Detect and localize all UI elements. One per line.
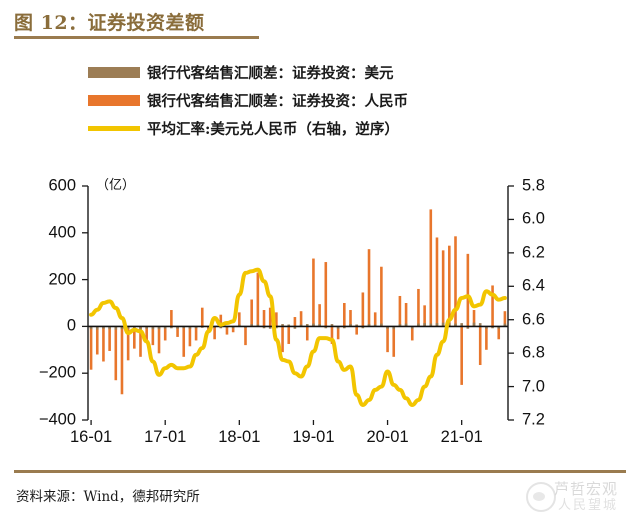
bar-cny (201, 308, 204, 327)
bar-cny (306, 326, 309, 340)
y-axis-left-label: 200 (14, 270, 76, 289)
y-axis-right-label: 6.8 (522, 344, 545, 363)
x-axis-label: 20-01 (366, 428, 408, 447)
y-axis-right-label: 6.6 (522, 310, 545, 329)
bar-cny (263, 310, 266, 326)
bar-cny (213, 326, 216, 339)
y-axis-left-label: 600 (14, 177, 76, 196)
bar-cny (189, 326, 192, 346)
watermark-logo-icon (526, 482, 556, 512)
source-note: 资料来源：Wind，德邦研究所 (16, 485, 200, 505)
bar-cny (281, 326, 284, 352)
bar-cny (386, 326, 389, 352)
chart-page: 图 12：证券投资差额 银行代客结售汇顺差：证券投资：美元银行代客结售汇顺差：证… (0, 0, 640, 523)
bar-cny (300, 311, 303, 326)
y-axis-unit: （亿） (96, 174, 135, 193)
bar-cny (436, 237, 439, 326)
plot-svg (88, 186, 508, 420)
bar-cny (114, 326, 117, 380)
bar-cny (96, 326, 99, 354)
bar-cny (417, 289, 420, 326)
watermark-subtitle: 人民望城 (558, 494, 618, 513)
x-axis-label: 16-01 (70, 428, 112, 447)
bar-cny (152, 326, 155, 345)
bar-cny (405, 303, 408, 326)
bar-cny (479, 326, 482, 365)
bar-cny (392, 326, 395, 356)
legend-item-1[interactable]: 银行代客结售汇顺差：证券投资：人民币 (88, 86, 408, 114)
chart-title: 图 12：证券投资差额 (14, 8, 205, 35)
bar-cny (121, 326, 124, 394)
bar-cny (158, 326, 161, 353)
bar-cny (399, 296, 402, 326)
plot-region (88, 186, 508, 420)
watermark: 芦哲宏观 人民望城 (524, 476, 636, 516)
y-axis-right-label: 7.2 (522, 411, 545, 430)
y-axis-right-label: 5.8 (522, 177, 545, 196)
bar-cny (238, 312, 241, 326)
legend-item-label: 平均汇率:美元兑人民币（右轴，逆序） (147, 118, 399, 139)
bar-cny (312, 259, 315, 327)
x-axis-label: 18-01 (218, 428, 260, 447)
bar-cny (287, 326, 290, 344)
bar-cny (195, 326, 198, 340)
bar-cny (257, 273, 260, 327)
bar-cny (244, 326, 247, 345)
x-axis-label: 21-01 (441, 428, 483, 447)
title-divider (14, 36, 259, 39)
chart-legend: 银行代客结售汇顺差：证券投资：美元银行代客结售汇顺差：证券投资：人民币平均汇率:… (88, 58, 408, 142)
y-axis-right-label: 7.0 (522, 377, 545, 396)
bar-cny (429, 209, 432, 326)
y-axis-left-label: 0 (14, 317, 76, 336)
bar-cny (90, 326, 93, 369)
bar-cny (318, 304, 321, 326)
bar-cny (182, 326, 185, 356)
legend-item-label: 银行代客结售汇顺差：证券投资：人民币 (147, 90, 408, 111)
legend-line (88, 126, 140, 131)
legend-swatch (88, 67, 140, 78)
bar-cny (324, 262, 327, 326)
bar-cny (362, 292, 365, 326)
bar-cny (368, 249, 371, 326)
bar-cny (170, 310, 173, 326)
bar-cny (467, 254, 470, 327)
bar-cny (380, 267, 383, 327)
bar-cny (343, 303, 346, 326)
bar-cny (250, 299, 253, 326)
y-axis-left-label: −400 (14, 411, 76, 430)
y-axis-left-label: −200 (14, 364, 76, 383)
bar-cny (448, 246, 451, 327)
bar-cny (355, 326, 358, 334)
x-axis-label: 19-01 (292, 428, 334, 447)
bar-cny (102, 326, 105, 361)
bar-cny (460, 326, 463, 385)
y-axis-right-label: 6.2 (522, 243, 545, 262)
bar-cny (485, 326, 488, 349)
footer-divider (14, 470, 626, 473)
legend-swatch (88, 95, 140, 106)
bar-cny (374, 312, 377, 326)
y-axis-right-label: 6.4 (522, 277, 545, 296)
legend-item-2[interactable]: 平均汇率:美元兑人民币（右轴，逆序） (88, 114, 408, 142)
y-axis-left-label: 400 (14, 223, 76, 242)
bar-cny (349, 310, 352, 326)
bar-cny (294, 317, 297, 326)
x-axis-label: 17-01 (144, 428, 186, 447)
bar-cny (491, 285, 494, 326)
bar-cny (442, 250, 445, 326)
page-title: 图 12：证券投资差额 (14, 8, 205, 35)
legend-item-label: 银行代客结售汇顺差：证券投资：美元 (147, 62, 394, 83)
legend-item-0[interactable]: 银行代客结售汇顺差：证券投资：美元 (88, 58, 408, 86)
y-axis-right-label: 6.0 (522, 210, 545, 229)
bar-cny (108, 326, 111, 351)
